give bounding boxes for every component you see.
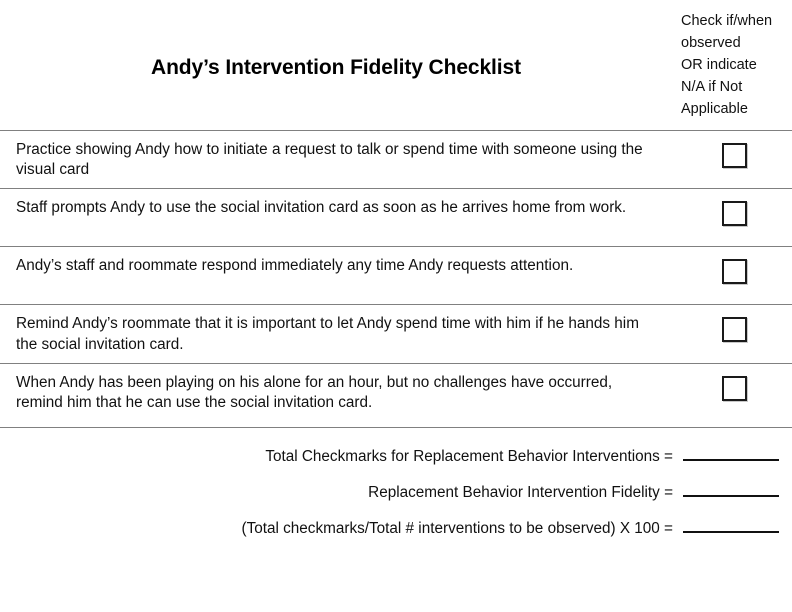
check-column-header-line-3: OR indicate (681, 54, 786, 76)
checkbox-cell[interactable] (672, 189, 792, 226)
checkbox-cell[interactable] (672, 364, 792, 401)
intervention-text: Staff prompts Andy to use the social inv… (0, 189, 672, 226)
total-value-blank[interactable] (683, 518, 779, 533)
total-label: Total Checkmarks for Replacement Behavio… (265, 448, 673, 466)
total-line: Total Checkmarks for Replacement Behavio… (0, 446, 792, 466)
table-row: Practice showing Andy how to initiate a … (0, 131, 792, 189)
total-label: (Total checkmarks/Total # interventions … (241, 520, 673, 538)
total-line: (Total checkmarks/Total # interventions … (0, 518, 792, 538)
checkbox-cell[interactable] (672, 247, 792, 284)
table-row: When Andy has been playing on his alone … (0, 364, 792, 428)
total-value-blank[interactable] (683, 482, 779, 497)
checkbox-cell[interactable] (672, 131, 792, 168)
total-value-blank[interactable] (683, 446, 779, 461)
fidelity-checklist-page: Andy’s Intervention Fidelity Checklist C… (0, 0, 792, 612)
intervention-text: When Andy has been playing on his alone … (0, 364, 672, 421)
table-row: Remind Andy’s roommate that it is import… (0, 305, 792, 363)
checkbox-cell[interactable] (672, 305, 792, 342)
intervention-text: Remind Andy’s roommate that it is import… (0, 305, 672, 362)
intervention-text: Practice showing Andy how to initiate a … (0, 131, 672, 188)
unchecked-checkbox-icon[interactable] (722, 201, 747, 226)
table-row: Staff prompts Andy to use the social inv… (0, 189, 792, 247)
intervention-text: Andy’s staff and roommate respond immedi… (0, 247, 672, 284)
unchecked-checkbox-icon[interactable] (722, 143, 747, 168)
check-column-header-line-2: observed (681, 32, 786, 54)
check-column-header-line-5: Applicable (681, 98, 786, 120)
page-title: Andy’s Intervention Fidelity Checklist (0, 56, 672, 79)
check-column-header-line-1: Check if/when (681, 10, 786, 32)
check-column-header-line-4: N/A if Not (681, 76, 786, 98)
totals-section: Total Checkmarks for Replacement Behavio… (0, 428, 792, 538)
header-band: Andy’s Intervention Fidelity Checklist C… (0, 0, 792, 130)
check-column-header: Check if/when observed OR indicate N/A i… (681, 10, 786, 120)
table-row: Andy’s staff and roommate respond immedi… (0, 247, 792, 305)
checklist-table: Practice showing Andy how to initiate a … (0, 130, 792, 428)
total-label: Replacement Behavior Intervention Fideli… (368, 484, 673, 502)
unchecked-checkbox-icon[interactable] (722, 259, 747, 284)
unchecked-checkbox-icon[interactable] (722, 317, 747, 342)
total-line: Replacement Behavior Intervention Fideli… (0, 482, 792, 502)
unchecked-checkbox-icon[interactable] (722, 376, 747, 401)
